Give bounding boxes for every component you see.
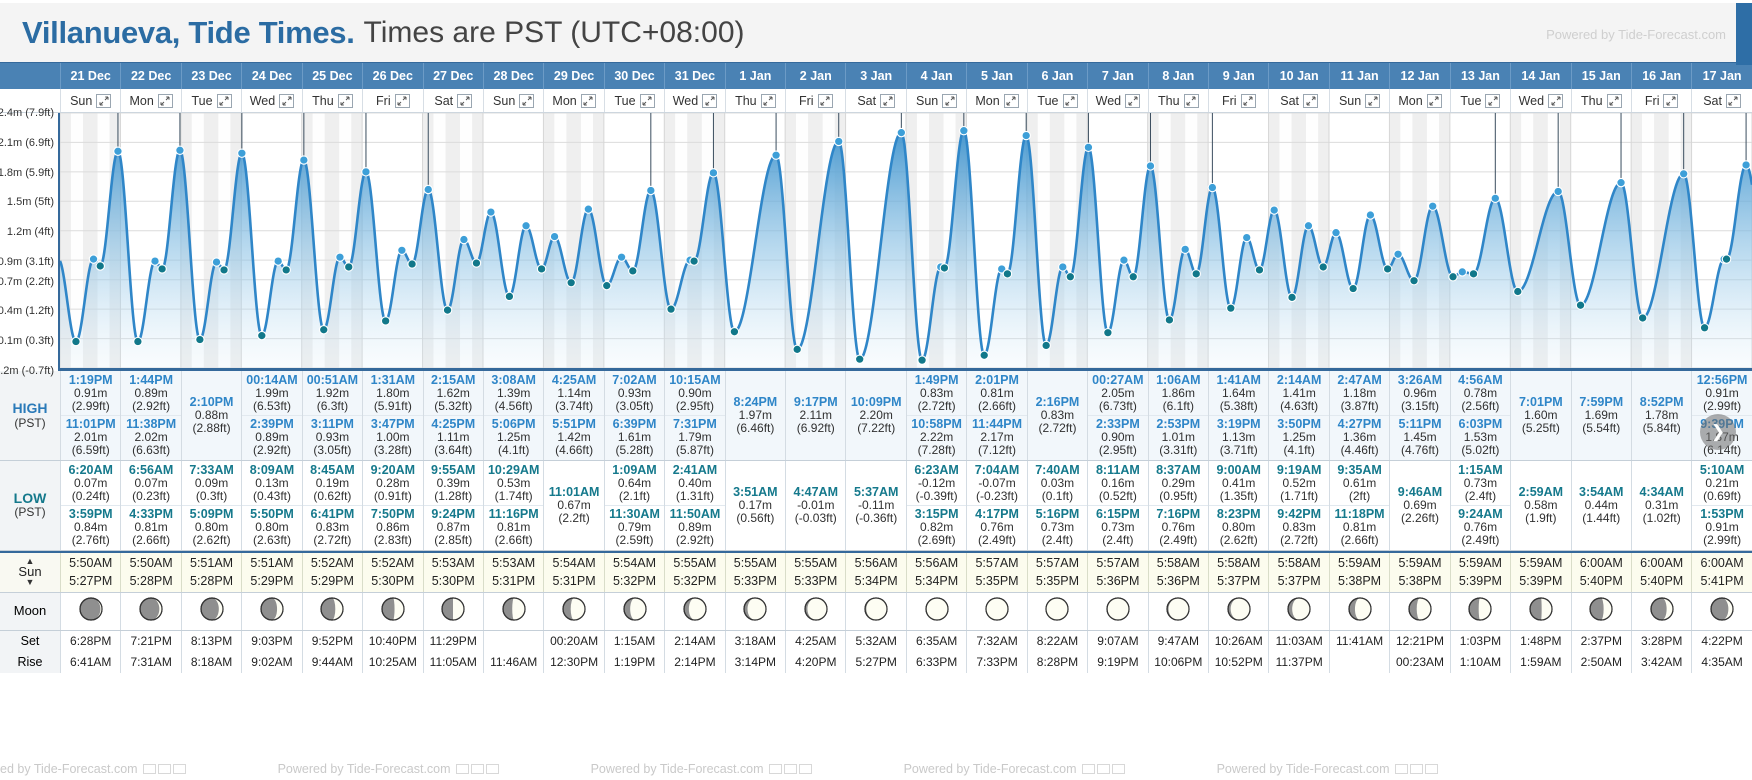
high-tide-time: 8:24PM (726, 395, 785, 409)
low-tide-height-metres: 0.03m (1028, 477, 1087, 490)
moon-set-cell: 12:21PM (1389, 631, 1449, 652)
moon-set-cell: 9:03PM (241, 631, 301, 652)
weekday-label: Mon (552, 94, 576, 108)
weekday-header-cell[interactable]: Tue (1450, 89, 1510, 112)
sunset-time: 5:28PM (130, 572, 173, 590)
date-header-cell[interactable]: 16 Jan (1631, 63, 1691, 89)
moon-cell (423, 593, 483, 630)
weekday-header-cell[interactable]: Thu (302, 89, 362, 112)
sun-cell: 6:00AM5:40PM (1571, 553, 1631, 592)
low-tide-cell: 4:47AM-0.01m(-0.03ft) (785, 461, 845, 550)
expand-icon[interactable] (942, 94, 957, 108)
expand-icon[interactable] (1485, 94, 1500, 108)
low-tide-event: 6:15PM0.73m(2.4ft) (1088, 505, 1147, 549)
sun-cell: 5:54AM5:31PM (543, 553, 603, 592)
high-tide-cell: 1:49PM0.83m(2.72ft)10:58PM2.22m(7.28ft) (906, 371, 966, 460)
expand-icon[interactable] (640, 94, 655, 108)
date-header-cell[interactable]: 21 Dec (60, 63, 120, 89)
date-label: 1 Jan (739, 69, 771, 83)
moon-rise-cell: 1:10AM (1450, 652, 1510, 673)
high-tide-time: 00:14AM (242, 373, 301, 387)
weekday-header-cell[interactable]: Mon (120, 89, 180, 112)
high-tide-cell: 1:41AM1.64m(5.38ft)3:19PM1.13m(3.71ft) (1208, 371, 1268, 460)
low-tide-height-metres: 0.80m (182, 521, 241, 534)
high-tide-event: 1:06AM1.86m(6.1ft) (1149, 372, 1208, 415)
date-header-cell[interactable]: 15 Jan (1571, 63, 1631, 89)
high-tide-height-feet: (2.72ft) (907, 400, 966, 413)
low-tide-height-metres: 0.07m (61, 477, 120, 490)
moon-phase-icon (1347, 596, 1373, 627)
moon-set-time: 11:03AM (1276, 634, 1323, 648)
low-tide-height-metres: 0.19m (303, 477, 362, 490)
low-tide-event: 8:11AM0.16m(0.52ft) (1088, 462, 1147, 505)
low-tide-cell: 2:59AM0.58m(1.9ft) (1510, 461, 1570, 550)
low-tide-height-metres: 0.73m (1088, 521, 1147, 534)
high-tide-height-metres: 1.25m (484, 431, 543, 444)
high-tide-cell: 4:25AM1.14m(3.74ft)5:51PM1.42m(4.66ft) (543, 371, 603, 460)
low-tide-time: 11:50AM (665, 507, 724, 521)
sunrise-time: 5:51AM (250, 554, 293, 572)
sun-cell: 5:55AM5:33PM (785, 553, 845, 592)
low-tide-height-metres: 0.07m (121, 477, 180, 490)
weekday-label: Thu (1581, 94, 1603, 108)
high-tide-height-feet: (5.84ft) (1632, 422, 1691, 435)
low-tide-height-feet: (2.72ft) (303, 534, 362, 547)
low-tide-cell: 9:46AM0.69m(2.26ft) (1389, 461, 1449, 550)
high-tide-event: 5:06PM1.25m(4.1ft) (484, 415, 543, 459)
sunset-time: 5:29PM (311, 572, 354, 590)
date-header-cell[interactable]: 10 Jan (1268, 63, 1328, 89)
sun-cell: 5:57AM5:35PM (966, 553, 1026, 592)
weekday-header-cell[interactable]: Wed (241, 89, 301, 112)
expand-icon[interactable] (702, 94, 717, 108)
low-tide-time: 6:20AM (61, 463, 120, 477)
high-tide-height-metres: 0.78m (1451, 387, 1510, 400)
sun-cell: 5:53AM5:30PM (423, 553, 483, 592)
moon-cell (1148, 593, 1208, 630)
weekday-header-cell[interactable]: Fri (1208, 89, 1268, 112)
language-flags[interactable] (1082, 764, 1125, 774)
date-header-cell[interactable]: 5 Jan (966, 63, 1026, 89)
low-tide-height-feet: (2.63ft) (242, 534, 301, 547)
low-tide-time: 9:00AM (1209, 463, 1268, 477)
low-tide-time: 6:41PM (303, 507, 362, 521)
weekday-label: Fri (799, 94, 814, 108)
low-tide-time: 8:09AM (242, 463, 301, 477)
low-tide-height-feet: (2.66ft) (484, 534, 543, 547)
language-flags[interactable] (769, 764, 812, 774)
low-tide-cell: 5:10AM0.21m(0.69ft)1:53PM0.91m(2.99ft) (1691, 461, 1751, 550)
low-tide-height-metres: 0.31m (1632, 499, 1691, 512)
low-tide-event: 9:42PM0.83m(2.72ft) (1269, 505, 1328, 549)
low-tide-height-feet: (0.24ft) (61, 490, 120, 503)
high-tide-event: 6:03PM1.53m(5.02ft) (1451, 415, 1510, 459)
flag-icon-de[interactable] (784, 764, 797, 774)
expand-icon[interactable] (1726, 94, 1741, 108)
page-footer: ed by Tide-Forecast.comPowered by Tide-F… (0, 758, 1752, 780)
date-header-cell[interactable]: 13 Jan (1450, 63, 1510, 89)
weekday-header-cell[interactable]: Sat (423, 89, 483, 112)
sun-cell: 5:50AM5:27PM (60, 553, 120, 592)
low-tide-time: 8:37AM (1149, 463, 1208, 477)
low-tide-height-metres: 0.53m (484, 477, 543, 490)
moon-set-time: 7:32AM (976, 634, 1017, 648)
flag-icon-uk[interactable] (1395, 764, 1408, 774)
expand-icon[interactable] (158, 94, 173, 108)
high-tide-height-feet: (6.1ft) (1149, 400, 1208, 413)
low-tide-time: 4:17PM (967, 507, 1026, 521)
high-tide-time: 8:52PM (1632, 395, 1691, 409)
date-label: 29 Dec (554, 69, 594, 83)
low-tide-cell: 9:35AM0.61m(2ft)11:18PM0.81m(2.66ft) (1329, 461, 1389, 550)
weekday-header-cell[interactable]: Sat (1268, 89, 1328, 112)
sun-cell: 5:56AM5:34PM (906, 553, 966, 592)
expand-icon[interactable] (96, 94, 111, 108)
sunrise-time: 5:58AM (1278, 554, 1321, 572)
moon-rise-time: 12:30PM (550, 655, 598, 669)
weekday-header-cell[interactable]: Mon (1389, 89, 1449, 112)
moon-set-cell (483, 631, 543, 652)
footer-credit: ed by Tide-Forecast.com (0, 762, 186, 776)
high-tide-cell: 8:24PM1.97m(6.46ft) (725, 371, 785, 460)
moon-cell (1208, 593, 1268, 630)
weekday-header-cell[interactable]: Sun (1329, 89, 1389, 112)
moon-rise-time: 8:28PM (1037, 655, 1078, 669)
moon-phase-icon (1165, 596, 1191, 627)
moon-set-time: 5:32AM (856, 634, 897, 648)
high-tide-event: 4:27PM1.36m(4.46ft) (1330, 415, 1389, 459)
low-tide-time: 3:54AM (1572, 485, 1631, 499)
weekday-header-cell[interactable]: Fri (785, 89, 845, 112)
moon-phase-icon (622, 596, 648, 627)
moon-rise-time: 9:02AM (251, 655, 292, 669)
moon-set-time: 2:14AM (674, 634, 715, 648)
sun-cell: 5:58AM5:37PM (1208, 553, 1268, 592)
moon-set-time: 3:28PM (1641, 634, 1682, 648)
expand-icon[interactable] (338, 94, 353, 108)
low-tide-event: 9:24AM0.76m(2.49ft) (1451, 505, 1510, 549)
date-header-cell[interactable]: 12 Jan (1389, 63, 1449, 89)
expand-icon[interactable] (457, 94, 472, 108)
moon-set-label-cell: Set (0, 631, 60, 652)
flag-icon-uk[interactable] (143, 764, 156, 774)
date-header-cell[interactable]: 3 Jan (845, 63, 905, 89)
low-tide-height-metres: 0.44m (1572, 499, 1631, 512)
moon-rise-time: 10:52PM (1215, 655, 1263, 669)
expand-icon[interactable] (818, 94, 833, 108)
date-header-cell[interactable]: 8 Jan (1148, 63, 1208, 89)
flag-icon-uk[interactable] (456, 764, 469, 774)
low-tide-cell: 9:19AM0.52m(1.71ft)9:42PM0.83m(2.72ft) (1268, 461, 1328, 550)
flag-icon-de[interactable] (158, 764, 171, 774)
date-header-cell[interactable]: 27 Dec (423, 63, 483, 89)
expand-icon[interactable] (761, 94, 776, 108)
high-tide-height-feet: (6.92ft) (786, 422, 845, 435)
date-header-cell[interactable]: 22 Dec (120, 63, 180, 89)
low-tide-height-feet: (0.23ft) (121, 490, 180, 503)
high-tide-cell: 7:59PM1.69m(5.54ft) (1571, 371, 1631, 460)
low-tide-height-feet: (1.31ft) (665, 490, 724, 503)
low-tide-height-feet: (1.44ft) (1572, 512, 1631, 525)
weekday-label: Mon (975, 94, 999, 108)
date-label: 30 Dec (614, 69, 654, 83)
low-tide-height-metres: -0.11m (846, 499, 905, 512)
date-header-cell[interactable]: 6 Jan (1027, 63, 1087, 89)
moon-set-cell: 11:29PM (423, 631, 483, 652)
high-tide-event: 2:10PM0.88m(2.88ft) (182, 394, 241, 437)
high-tide-height-metres: 1.25m (1269, 431, 1328, 444)
tide-curve-svg (60, 113, 1752, 368)
horizontal-scrollbar-right[interactable] (1736, 3, 1752, 65)
moon-cell (725, 593, 785, 630)
low-tide-height-feet: (2.85ft) (424, 534, 483, 547)
low-tide-height-feet: (1.35ft) (1209, 490, 1268, 503)
low-tide-event: 8:23PM0.80m(2.62ft) (1209, 505, 1268, 549)
high-tide-time: 12:56PM (1692, 373, 1751, 387)
date-header-cell[interactable]: 23 Dec (181, 63, 241, 89)
high-tide-time: 10:58PM (907, 417, 966, 431)
low-tide-time: 3:15PM (907, 507, 966, 521)
high-tide-time: 00:27AM (1088, 373, 1147, 387)
high-tide-time: 2:10PM (182, 395, 241, 409)
footer-credit: Powered by Tide-Forecast.com (1217, 762, 1438, 776)
low-tide-time: 8:11AM (1088, 463, 1147, 477)
low-tide-height-metres: 0.29m (1149, 477, 1208, 490)
moon-phase-icon (682, 596, 708, 627)
low-tide-label-sub: (PST) (14, 506, 45, 520)
expand-icon[interactable] (1548, 94, 1563, 108)
moon-cell (604, 593, 664, 630)
moon-set-cell: 4:25AM (785, 631, 845, 652)
low-tide-height-metres: 0.91m (1692, 521, 1751, 534)
moon-rise-cell: 9:02AM (241, 652, 301, 673)
flag-icon-de[interactable] (1097, 764, 1110, 774)
language-flags[interactable] (143, 764, 186, 774)
flag-icon-fr[interactable] (173, 764, 186, 774)
sunset-time: 5:38PM (1398, 572, 1441, 590)
expand-icon[interactable] (279, 94, 294, 108)
moon-set-time: 12:21PM (1396, 634, 1444, 648)
weekday-header-cell[interactable]: Mon (966, 89, 1026, 112)
high-tide-time: 2:15AM (424, 373, 483, 387)
date-header-cell[interactable]: 9 Jan (1208, 63, 1268, 89)
low-tide-height-metres: 0.28m (363, 477, 422, 490)
high-tide-height-metres: 1.99m (242, 387, 301, 400)
expand-icon[interactable] (1004, 94, 1019, 108)
moon-cell (1691, 593, 1751, 630)
high-tide-event: 2:47AM1.18m(3.87ft) (1330, 372, 1389, 415)
low-tide-time: 1:15AM (1451, 463, 1510, 477)
sun-cell: 5:56AM5:34PM (845, 553, 905, 592)
weekday-header-cell[interactable]: Tue (1027, 89, 1087, 112)
high-tide-height-feet: (3.74ft) (544, 400, 603, 413)
moon-phase-icon (138, 596, 164, 627)
weekday-header-cell[interactable]: Sun (60, 89, 120, 112)
chart-y-axis: 2.4m (7.9ft)2.1m (6.9ft)1.8m (5.9ft)1.5m… (0, 113, 60, 371)
expand-icon[interactable] (519, 94, 534, 108)
moon-set-time: 9:03PM (251, 634, 292, 648)
date-header-cell[interactable]: 29 Dec (543, 63, 603, 89)
high-tide-height-metres: 1.92m (303, 387, 362, 400)
low-tide-height-feet: (2.62ft) (1209, 534, 1268, 547)
weekday-header-cell[interactable]: Wed (1087, 89, 1147, 112)
weekday-header-cell[interactable]: Thu (1148, 89, 1208, 112)
footer-credit-text: ed by Tide-Forecast.com (0, 762, 138, 776)
high-tide-height-feet: (4.56ft) (484, 400, 543, 413)
low-tide-height-feet: (0.1ft) (1028, 490, 1087, 503)
moon-phase-icon (199, 596, 225, 627)
high-tide-cell: 2:47AM1.18m(3.87ft)4:27PM1.36m(4.46ft) (1329, 371, 1389, 460)
sunrise-time: 6:00AM (1580, 554, 1623, 572)
weekday-header-cell[interactable]: Mon (543, 89, 603, 112)
expand-icon[interactable] (1303, 94, 1318, 108)
weekday-header-cell[interactable]: Wed (1510, 89, 1570, 112)
moon-set-time: 1:03PM (1460, 634, 1501, 648)
moon-rise-cell: 11:46AM (483, 652, 543, 673)
flag-icon-fr[interactable] (486, 764, 499, 774)
flag-icon-uk[interactable] (769, 764, 782, 774)
low-tide-height-metres: 0.39m (424, 477, 483, 490)
scroll-forward-button[interactable]: ❯ (1700, 414, 1736, 450)
low-tide-height-metres: 0.69m (1390, 499, 1449, 512)
weekday-header-cell[interactable]: Tue (181, 89, 241, 112)
low-tide-time: 3:51AM (726, 485, 785, 499)
y-axis-tick-label: 0.1m (0.3ft) (0, 335, 54, 347)
flag-icon-fr[interactable] (1425, 764, 1438, 774)
date-header-cell[interactable]: 31 Dec (664, 63, 724, 89)
weekday-header-cell[interactable]: Wed (664, 89, 724, 112)
high-tide-event: 3:47PM1.00m(3.28ft) (363, 415, 422, 459)
date-header-cell[interactable]: 17 Jan (1691, 63, 1751, 89)
low-tide-event: 10:29AM0.53m(1.74ft) (484, 462, 543, 505)
language-flags[interactable] (456, 764, 499, 774)
chart-plot-area[interactable] (60, 113, 1752, 371)
date-header-cell[interactable]: 28 Dec (483, 63, 543, 89)
date-header-cell[interactable]: 7 Jan (1087, 63, 1147, 89)
high-tide-event: 4:25AM1.14m(3.74ft) (544, 372, 603, 415)
moon-set-cell: 9:47AM (1148, 631, 1208, 652)
low-tide-height-metres: 0.58m (1511, 499, 1570, 512)
low-tide-event: 4:17PM0.76m(2.49ft) (967, 505, 1026, 549)
high-tide-cell: 9:17PM2.11m(6.92ft) (785, 371, 845, 460)
expand-icon[interactable] (1365, 94, 1380, 108)
moon-rise-time: 1:10AM (1460, 655, 1501, 669)
weekday-label: Tue (614, 94, 635, 108)
high-tide-height-metres: 0.90m (665, 387, 724, 400)
expand-icon[interactable] (581, 94, 596, 108)
weekday-header-cell[interactable]: Sat (845, 89, 905, 112)
low-tide-height-feet: (0.69ft) (1692, 490, 1751, 503)
low-tide-height-metres: 0.73m (1028, 521, 1087, 534)
low-tide-time: 5:37AM (846, 485, 905, 499)
sunset-time: 5:32PM (673, 572, 716, 590)
moon-phase-icon (501, 596, 527, 627)
expand-icon[interactable] (1184, 94, 1199, 108)
low-tide-time: 2:59AM (1511, 485, 1570, 499)
low-tide-time: 4:34AM (1632, 485, 1691, 499)
moon-rise-cell: 10:25AM (362, 652, 422, 673)
flag-icon-de[interactable] (471, 764, 484, 774)
high-tide-cell: 10:09PM2.20m(7.22ft) (845, 371, 905, 460)
language-flags[interactable] (1395, 764, 1438, 774)
low-tide-event: 8:09AM0.13m(0.43ft) (242, 462, 301, 505)
weekday-header-cell[interactable]: Tue (604, 89, 664, 112)
moon-set-time: 9:07AM (1097, 634, 1138, 648)
low-tide-event: 7:04AM-0.07m(-0.23ft) (967, 462, 1026, 505)
weekday-header-cell[interactable]: Sun (483, 89, 543, 112)
low-tide-height-feet: (2.83ft) (363, 534, 422, 547)
expand-icon[interactable] (1427, 94, 1442, 108)
moon-set-cell: 10:26AM (1208, 631, 1268, 652)
high-tide-event: 8:52PM1.78m(5.84ft) (1632, 394, 1691, 437)
high-tide-time: 6:03PM (1451, 417, 1510, 431)
flag-icon-de[interactable] (1410, 764, 1423, 774)
high-tide-time: 2:14AM (1269, 373, 1328, 387)
weekday-header-cell[interactable]: Thu (725, 89, 785, 112)
y-axis-tick-label: 0.4m (1.2ft) (0, 305, 54, 317)
date-header-cell[interactable]: 1 Jan (725, 63, 785, 89)
weekday-header-cell[interactable]: Fri (362, 89, 422, 112)
expand-icon[interactable] (1241, 94, 1256, 108)
date-header-cell[interactable]: 26 Dec (362, 63, 422, 89)
date-header-cell[interactable]: 11 Jan (1329, 63, 1389, 89)
low-tide-cell: 8:45AM0.19m(0.62ft)6:41PM0.83m(2.72ft) (302, 461, 362, 550)
high-tide-height-metres: 0.93m (303, 431, 362, 444)
high-tide-cell: 3:08AM1.39m(4.56ft)5:06PM1.25m(4.1ft) (483, 371, 543, 460)
date-header-cell[interactable]: 14 Jan (1510, 63, 1570, 89)
low-tide-event: 11:30AM0.79m(2.59ft) (605, 505, 664, 549)
expand-icon[interactable] (1663, 94, 1678, 108)
flag-icon-fr[interactable] (1112, 764, 1125, 774)
date-header-cell[interactable]: 4 Jan (906, 63, 966, 89)
low-tide-height-metres: 0.87m (424, 521, 483, 534)
weekday-header-cell[interactable]: Sun (906, 89, 966, 112)
expand-icon[interactable] (1063, 94, 1078, 108)
high-tide-height-feet: (3.15ft) (1390, 400, 1449, 413)
high-tide-height-feet: (2.88ft) (182, 422, 241, 435)
expand-icon[interactable] (880, 94, 895, 108)
date-header-row: 21 Dec22 Dec23 Dec24 Dec25 Dec26 Dec27 D… (0, 62, 1752, 89)
moon-set-time: 8:22AM (1037, 634, 1078, 648)
low-tide-height-metres: 0.81m (1330, 521, 1389, 534)
high-tide-time: 7:01PM (1511, 395, 1570, 409)
date-header-cell[interactable]: 25 Dec (302, 63, 362, 89)
weekday-header-cell[interactable]: Fri (1631, 89, 1691, 112)
moon-rise-label: Rise (17, 655, 42, 669)
high-tide-height-metres: 2.17m (967, 431, 1026, 444)
date-header-cell[interactable]: 30 Dec (604, 63, 664, 89)
date-label: 2 Jan (800, 69, 832, 83)
sunset-time: 5:31PM (553, 572, 596, 590)
date-header-cell[interactable]: 24 Dec (241, 63, 301, 89)
expand-icon[interactable] (1607, 94, 1622, 108)
weekday-label: Wed (1096, 94, 1121, 108)
sunset-time: 5:34PM (855, 572, 898, 590)
high-tide-event: 12:56PM0.91m(2.99ft) (1692, 372, 1751, 415)
high-tide-time: 2:16PM (1028, 395, 1087, 409)
date-header-cell[interactable]: 2 Jan (785, 63, 845, 89)
weekday-header-cell[interactable]: Thu (1571, 89, 1631, 112)
expand-icon[interactable] (395, 94, 410, 108)
high-tide-height-feet: (5.32ft) (424, 400, 483, 413)
high-tide-time: 1:44PM (121, 373, 180, 387)
expand-icon[interactable] (1125, 94, 1140, 108)
expand-icon[interactable] (217, 94, 232, 108)
low-tide-cell: 3:54AM0.44m(1.44ft) (1571, 461, 1631, 550)
flag-icon-fr[interactable] (799, 764, 812, 774)
weekday-header-cell[interactable]: Sat (1691, 89, 1751, 112)
flag-icon-uk[interactable] (1082, 764, 1095, 774)
